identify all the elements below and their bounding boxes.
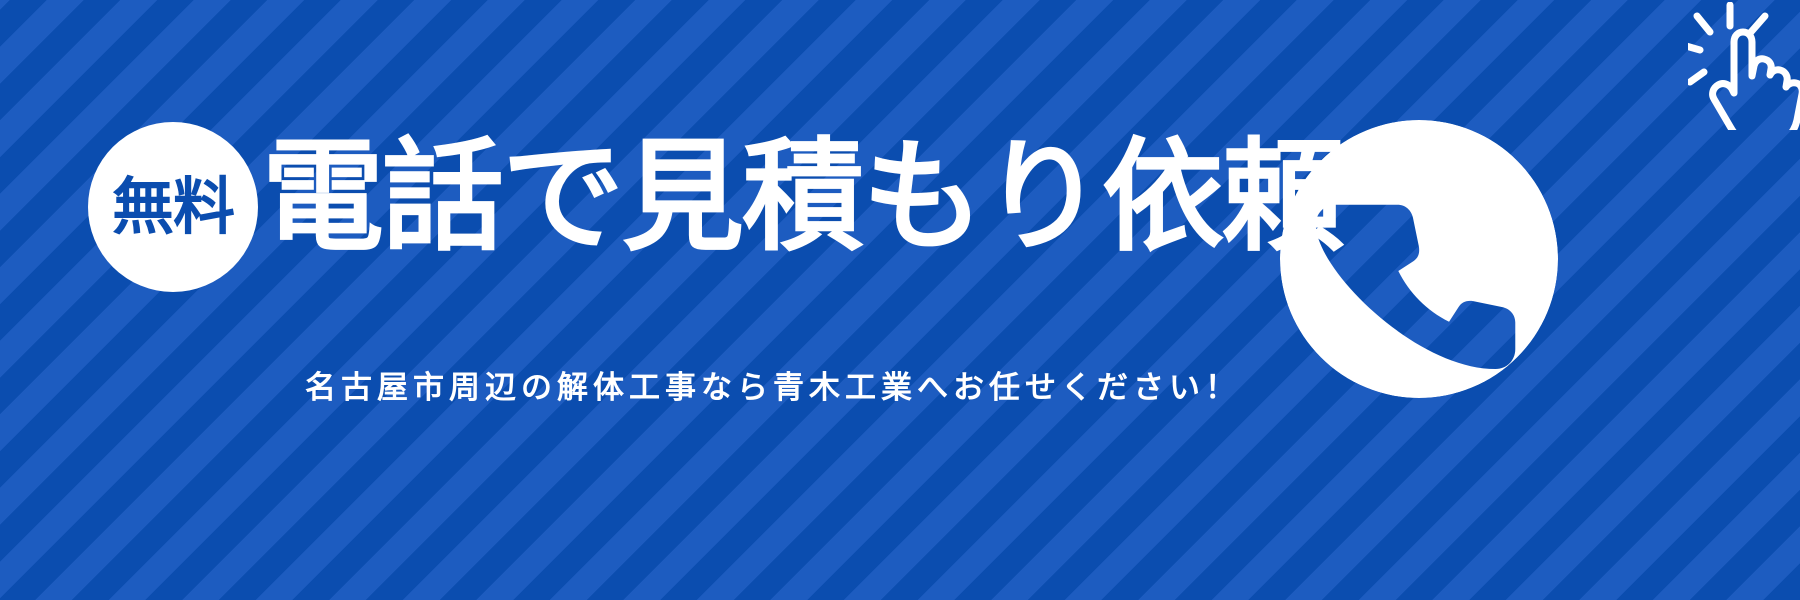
phone-quote-cta-banner[interactable]: 無料 電話で見積もり依頼 名古屋市周辺の解体工事なら青木工業へお任せください！ <box>0 0 1800 600</box>
phone-icon-circle[interactable] <box>1280 120 1558 398</box>
free-badge: 無料 <box>88 122 258 292</box>
free-badge-label: 無料 <box>112 176 234 238</box>
tap-hand-cursor <box>1688 2 1800 130</box>
phone-handset-icon <box>1280 120 1558 398</box>
headline: 電話で見積もり依頼 <box>262 125 1282 270</box>
subtitle-text: 名古屋市周辺の解体工事なら青木工業へお任せください！ <box>305 370 1241 406</box>
headline-text: 電話で見積もり依頼 <box>262 133 1342 261</box>
subtitle: 名古屋市周辺の解体工事なら青木工業へお任せください！ <box>258 368 1288 408</box>
tap-hand-cursor-icon <box>1688 2 1800 130</box>
